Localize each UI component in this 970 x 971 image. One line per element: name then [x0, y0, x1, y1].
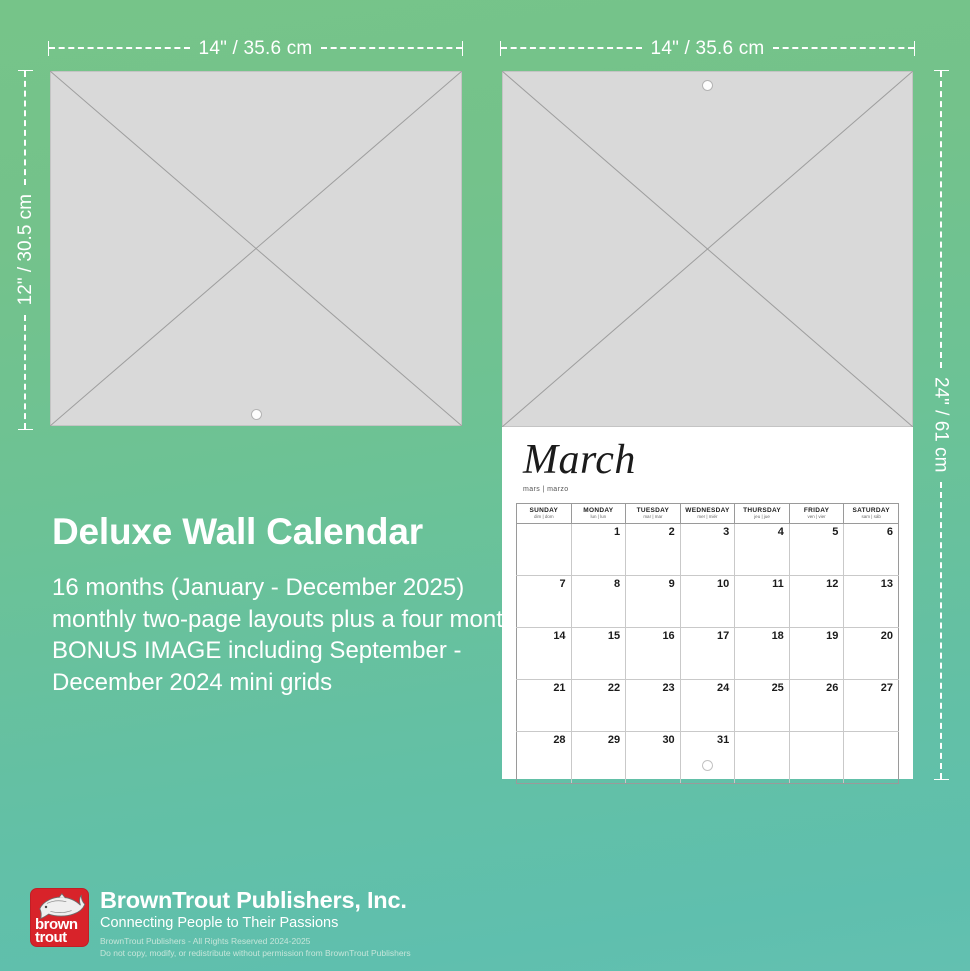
calendar-day-cell: 24	[680, 679, 735, 731]
dow-sub: ven | vier	[790, 514, 844, 519]
calendar-dow-friday: FRIDAY ven | vier	[789, 504, 844, 524]
calendar-week-row: 1 2 3 4 5 6	[517, 523, 899, 575]
calendar-week-row: 7 8 9 10 11 12 13	[517, 575, 899, 627]
dimension-cap-end	[462, 41, 463, 56]
calendar-day-cell: 28	[517, 731, 572, 783]
calendar-day-cell: 23	[626, 679, 681, 731]
calendar-day-cell: 25	[735, 679, 790, 731]
right-image-placeholder	[502, 71, 913, 427]
dow-sub: jeu | jue	[735, 514, 789, 519]
calendar-dow-saturday: SATURDAY sam | sáb	[844, 504, 899, 524]
dow-name: SATURDAY	[844, 507, 898, 514]
page-title: Deluxe Wall Calendar	[52, 512, 423, 553]
calendar-day-cell: 30	[626, 731, 681, 783]
calendar-week-row: 21 22 23 24 25 26 27	[517, 679, 899, 731]
calendar-day-cell: 9	[626, 575, 681, 627]
calendar-day-cell: 31	[680, 731, 735, 783]
dimension-top-right-width: 14" / 35.6 cm	[500, 37, 915, 59]
dimension-dash	[501, 47, 642, 49]
calendar-grid: SUNDAY dim | dom MONDAY lun | lun TUESDA…	[516, 503, 899, 784]
publisher-name: BrownTrout Publishers, Inc.	[100, 888, 411, 913]
calendar-day-cell: 14	[517, 627, 572, 679]
dow-name: WEDNESDAY	[681, 507, 735, 514]
dimension-top-left-width: 14" / 35.6 cm	[48, 37, 463, 59]
product-infographic: 14" / 35.6 cm 14" / 35.6 cm 12" / 30.5 c…	[0, 0, 970, 971]
calendar-day-cell: 5	[789, 523, 844, 575]
calendar-day-cell: 16	[626, 627, 681, 679]
dimension-dash	[773, 47, 914, 49]
dimension-dash	[24, 71, 26, 185]
calendar-day-cell	[844, 731, 899, 783]
copyright-line-1: BrownTrout Publishers - All Rights Reser…	[100, 936, 411, 947]
dow-name: MONDAY	[572, 507, 626, 514]
logo-wordmark: brown trout	[35, 918, 78, 946]
calendar-day-cell	[735, 731, 790, 783]
calendar-day-cell: 3	[680, 523, 735, 575]
copyright-notice: BrownTrout Publishers - All Rights Reser…	[100, 936, 411, 959]
dow-name: SUNDAY	[517, 507, 571, 514]
dow-sub: dim | dom	[517, 514, 571, 519]
dimension-label-top-right: 14" / 35.6 cm	[642, 39, 774, 58]
calendar-day-cell: 19	[789, 627, 844, 679]
hanging-hole-right-panel-top	[702, 80, 713, 91]
dow-name: TUESDAY	[626, 507, 680, 514]
dow-sub: mar | mar	[626, 514, 680, 519]
dow-name: FRIDAY	[790, 507, 844, 514]
hanging-hole-calendar-bottom	[702, 760, 713, 771]
dimension-cap-end	[914, 41, 915, 56]
dow-sub: lun | lun	[572, 514, 626, 519]
dimension-dash	[940, 482, 942, 779]
calendar-day-cell: 22	[571, 679, 626, 731]
calendar-day-cell: 12	[789, 575, 844, 627]
calendar-day-cell: 2	[626, 523, 681, 575]
calendar-day-cell: 6	[844, 523, 899, 575]
calendar-day-cell: 17	[680, 627, 735, 679]
calendar-day-cell: 15	[571, 627, 626, 679]
calendar-day-cell: 26	[789, 679, 844, 731]
dimension-dash	[321, 47, 462, 49]
calendar-day-cell: 4	[735, 523, 790, 575]
calendar-header-row: SUNDAY dim | dom MONDAY lun | lun TUESDA…	[517, 504, 899, 524]
dimension-label-top-left: 14" / 35.6 cm	[190, 39, 322, 58]
left-image-placeholder	[50, 71, 462, 426]
calendar-day-cell: 1	[571, 523, 626, 575]
dimension-cap-end	[934, 779, 949, 780]
calendar-month-name: March	[523, 439, 899, 481]
calendar-month-subtitle: mars | marzo	[523, 486, 899, 493]
logo-word-trout: trout	[35, 931, 78, 945]
dimension-left-height: 12" / 30.5 cm	[14, 70, 36, 430]
calendar-dow-wednesday: WEDNESDAY mer | miér	[680, 504, 735, 524]
placeholder-cross-icon	[502, 71, 913, 427]
calendar-day-cell: 20	[844, 627, 899, 679]
dow-sub: mer | miér	[681, 514, 735, 519]
footer-text-block: BrownTrout Publishers, Inc. Connecting P…	[100, 888, 411, 959]
placeholder-cross-icon	[50, 71, 462, 426]
copyright-line-2: Do not copy, modify, or redistribute wit…	[100, 948, 411, 959]
calendar-day-cell	[517, 523, 572, 575]
calendar-day-cell: 27	[844, 679, 899, 731]
dimension-dash	[49, 47, 190, 49]
browntrout-logo: brown trout	[30, 888, 89, 947]
calendar-week-row: 28 29 30 31	[517, 731, 899, 783]
calendar-day-cell: 21	[517, 679, 572, 731]
calendar-page: March mars | marzo SUNDAY dim | dom MOND…	[502, 427, 913, 779]
product-description: 16 months (January - December 2025) mont…	[52, 572, 522, 699]
footer: brown trout BrownTrout Publishers, Inc. …	[30, 888, 411, 959]
dow-name: THURSDAY	[735, 507, 789, 514]
dimension-dash	[24, 315, 26, 429]
calendar-day-cell: 8	[571, 575, 626, 627]
calendar-dow-tuesday: TUESDAY mar | mar	[626, 504, 681, 524]
calendar-day-cell: 18	[735, 627, 790, 679]
calendar-month-block: March mars | marzo	[523, 439, 899, 493]
calendar-day-cell: 7	[517, 575, 572, 627]
calendar-week-row: 14 15 16 17 18 19 20	[517, 627, 899, 679]
dimension-dash	[940, 71, 942, 368]
calendar-day-cell	[789, 731, 844, 783]
publisher-tagline: Connecting People to Their Passions	[100, 914, 411, 932]
calendar-day-cell: 13	[844, 575, 899, 627]
dimension-label-right: 24" / 61 cm	[932, 368, 951, 481]
calendar-day-cell: 29	[571, 731, 626, 783]
dow-sub: sam | sáb	[844, 514, 898, 519]
dimension-label-left: 12" / 30.5 cm	[16, 185, 35, 314]
hanging-hole-left-panel	[251, 409, 262, 420]
dimension-right-height: 24" / 61 cm	[930, 70, 952, 780]
dimension-cap-end	[18, 429, 33, 430]
calendar-day-cell: 10	[680, 575, 735, 627]
calendar-dow-thursday: THURSDAY jeu | jue	[735, 504, 790, 524]
calendar-dow-monday: MONDAY lun | lun	[571, 504, 626, 524]
calendar-day-cell: 11	[735, 575, 790, 627]
calendar-dow-sunday: SUNDAY dim | dom	[517, 504, 572, 524]
